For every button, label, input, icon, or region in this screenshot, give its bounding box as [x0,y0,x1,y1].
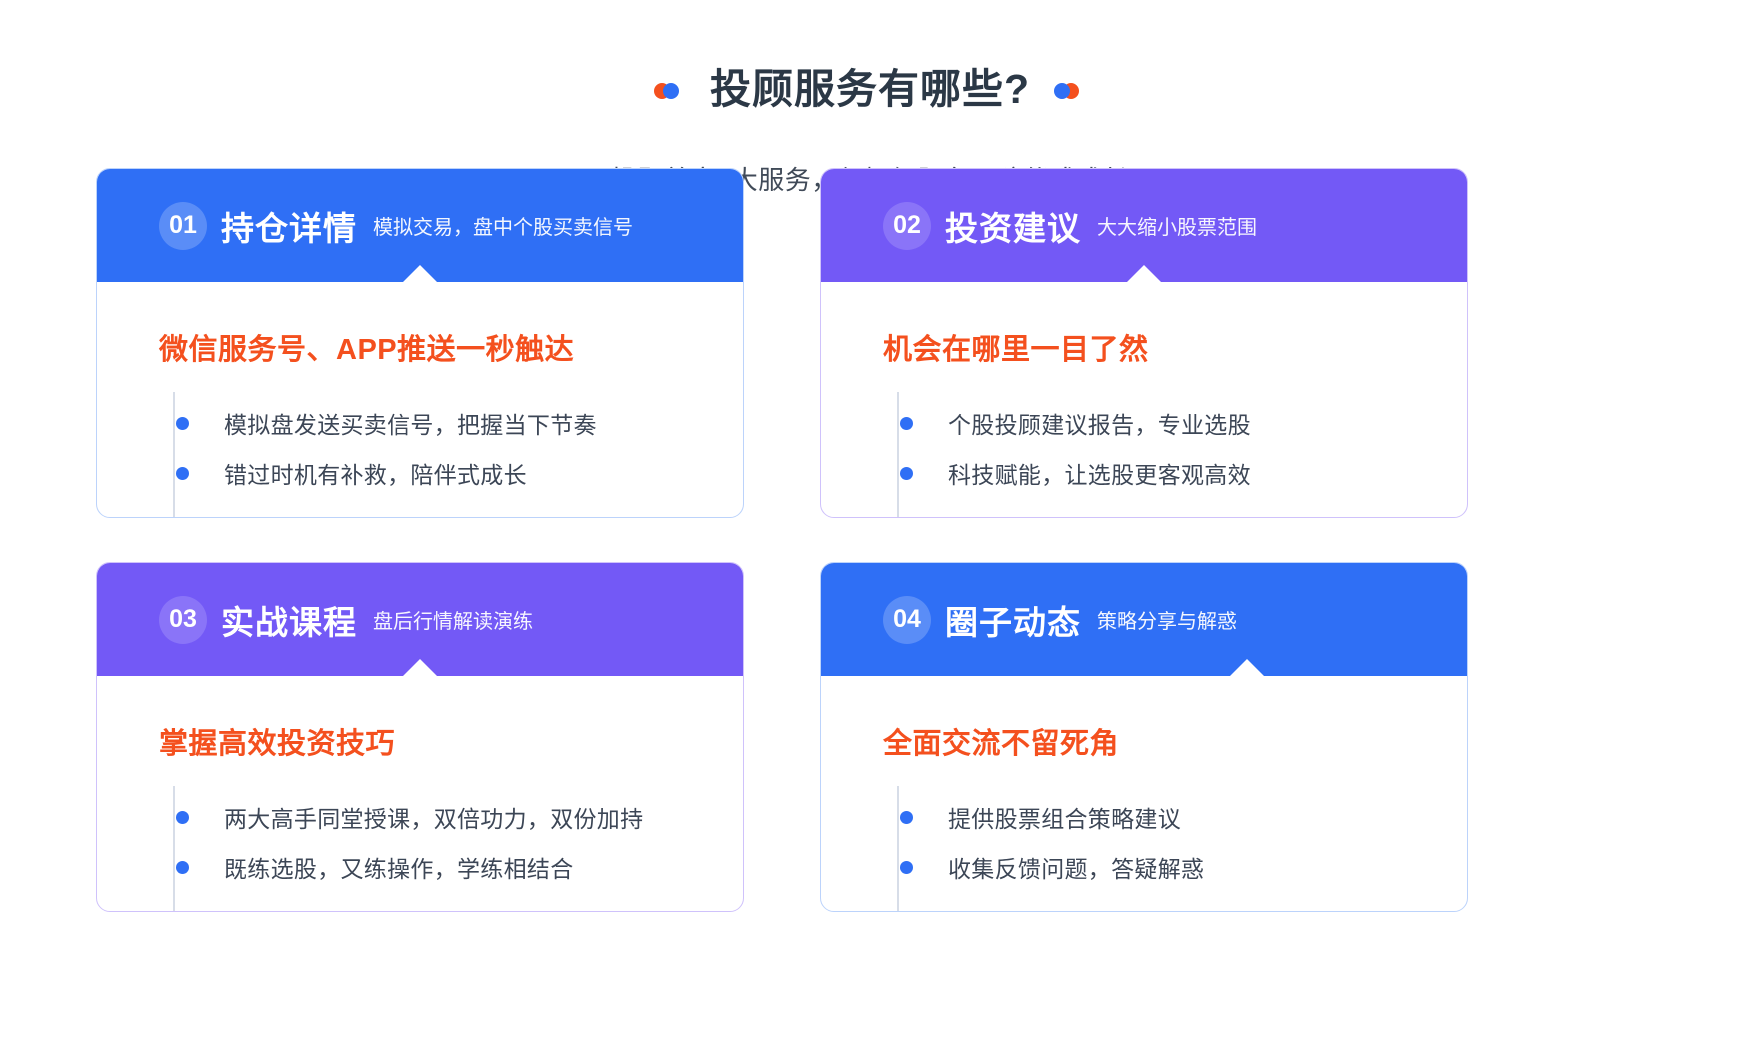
list-item-label: 收集反馈问题，答疑解惑 [948,850,1204,884]
card-body: 机会在哪里一目了然 个股投顾建议报告，专业选股 科技赋能，让选股更客观高效 [821,282,1467,498]
list-item-label: 两大高手同堂授课，双倍功力，双份加持 [224,800,643,834]
list-item: 个股投顾建议报告，专业选股 [891,398,1467,448]
card-header: 04 圈子动态 策略分享与解惑 [821,563,1467,676]
card-body-title: 微信服务号、APP推送一秒触达 [159,326,743,368]
list-item-label: 提供股票组合策略建议 [948,800,1181,834]
blue-dot-icon [663,83,679,99]
card-head-subtitle: 策略分享与解惑 [1097,605,1237,634]
list-item-label: 错过时机有补救，陪伴式成长 [224,456,527,490]
card-body-title: 机会在哪里一目了然 [883,326,1467,368]
card-bullet-list: 两大高手同堂授课，双倍功力，双份加持 既练选股，又练操作，学练相结合 [159,792,743,892]
card-header: 01 持仓详情 模拟交易，盘中个股买卖信号 [97,169,743,282]
card-body: 全面交流不留死角 提供股票组合策略建议 收集反馈问题，答疑解惑 [821,676,1467,892]
title-decoration-right [1052,80,1086,100]
bullet-dot-icon [900,467,913,480]
list-item: 提供股票组合策略建议 [891,792,1467,842]
card-number-badge: 01 [159,202,207,250]
bullet-dot-icon [900,417,913,430]
card-body: 微信服务号、APP推送一秒触达 模拟盘发送买卖信号，把握当下节奏 错过时机有补救… [97,282,743,498]
list-item: 错过时机有补救，陪伴式成长 [167,448,743,498]
list-item-label: 科技赋能，让选股更客观高效 [948,456,1251,490]
list-item-label: 个股投顾建议报告，专业选股 [948,406,1251,440]
list-item: 既练选股，又练操作，学练相结合 [167,842,743,892]
card-head-title: 圈子动态 [945,596,1081,644]
list-item: 收集反馈问题，答疑解惑 [891,842,1467,892]
card-notch-icon [1127,265,1161,282]
list-item: 科技赋能，让选股更客观高效 [891,448,1467,498]
card-head-subtitle: 模拟交易，盘中个股买卖信号 [373,211,633,240]
card-body: 掌握高效投资技巧 两大高手同堂授课，双倍功力，双份加持 既练选股，又练操作，学练… [97,676,743,892]
title-row: 投顾服务有哪些? [0,38,1740,142]
page-title: 投顾服务有哪些? [710,65,1030,114]
service-card[interactable]: 04 圈子动态 策略分享与解惑 全面交流不留死角 提供股票组合策略建议 收集反馈… [820,562,1468,912]
card-number-badge: 04 [883,596,931,644]
service-card-grid: 01 持仓详情 模拟交易，盘中个股买卖信号 微信服务号、APP推送一秒触达 模拟… [96,168,1644,912]
card-header: 03 实战课程 盘后行情解读演练 [97,563,743,676]
card-number-badge: 03 [159,596,207,644]
list-item: 模拟盘发送买卖信号，把握当下节奏 [167,398,743,448]
service-card[interactable]: 02 投资建议 大大缩小股票范围 机会在哪里一目了然 个股投顾建议报告，专业选股… [820,168,1468,518]
bullet-dot-icon [176,861,189,874]
title-decoration-left [654,80,688,100]
list-item: 两大高手同堂授课，双倍功力，双份加持 [167,792,743,842]
card-head-subtitle: 大大缩小股票范围 [1097,211,1257,240]
bullet-dot-icon [176,467,189,480]
bullet-dot-icon [900,811,913,824]
card-notch-icon [403,265,437,282]
card-body-title: 掌握高效投资技巧 [159,720,743,762]
card-header: 02 投资建议 大大缩小股票范围 [821,169,1467,282]
list-item-label: 既练选股，又练操作，学练相结合 [224,850,574,884]
card-bullet-list: 模拟盘发送买卖信号，把握当下节奏 错过时机有补救，陪伴式成长 [159,398,743,498]
blue-dot-icon [1054,83,1070,99]
page-root: 投顾服务有哪些? 投顾尊享4大服务，保姆级服务，陪伴式成长 01 持仓详情 模拟… [0,0,1740,1062]
card-notch-icon [1230,659,1264,676]
bullet-dot-icon [176,811,189,824]
card-notch-icon [403,659,437,676]
card-body-title: 全面交流不留死角 [883,720,1467,762]
list-item-label: 模拟盘发送买卖信号，把握当下节奏 [224,406,597,440]
service-card[interactable]: 01 持仓详情 模拟交易，盘中个股买卖信号 微信服务号、APP推送一秒触达 模拟… [96,168,744,518]
card-head-title: 实战课程 [221,596,357,644]
card-bullet-list: 提供股票组合策略建议 收集反馈问题，答疑解惑 [883,792,1467,892]
card-bullet-list: 个股投顾建议报告，专业选股 科技赋能，让选股更客观高效 [883,398,1467,498]
card-head-title: 投资建议 [945,202,1081,250]
service-card[interactable]: 03 实战课程 盘后行情解读演练 掌握高效投资技巧 两大高手同堂授课，双倍功力，… [96,562,744,912]
card-number-badge: 02 [883,202,931,250]
card-head-title: 持仓详情 [221,202,357,250]
card-head-subtitle: 盘后行情解读演练 [373,605,533,634]
bullet-dot-icon [176,417,189,430]
bullet-dot-icon [900,861,913,874]
